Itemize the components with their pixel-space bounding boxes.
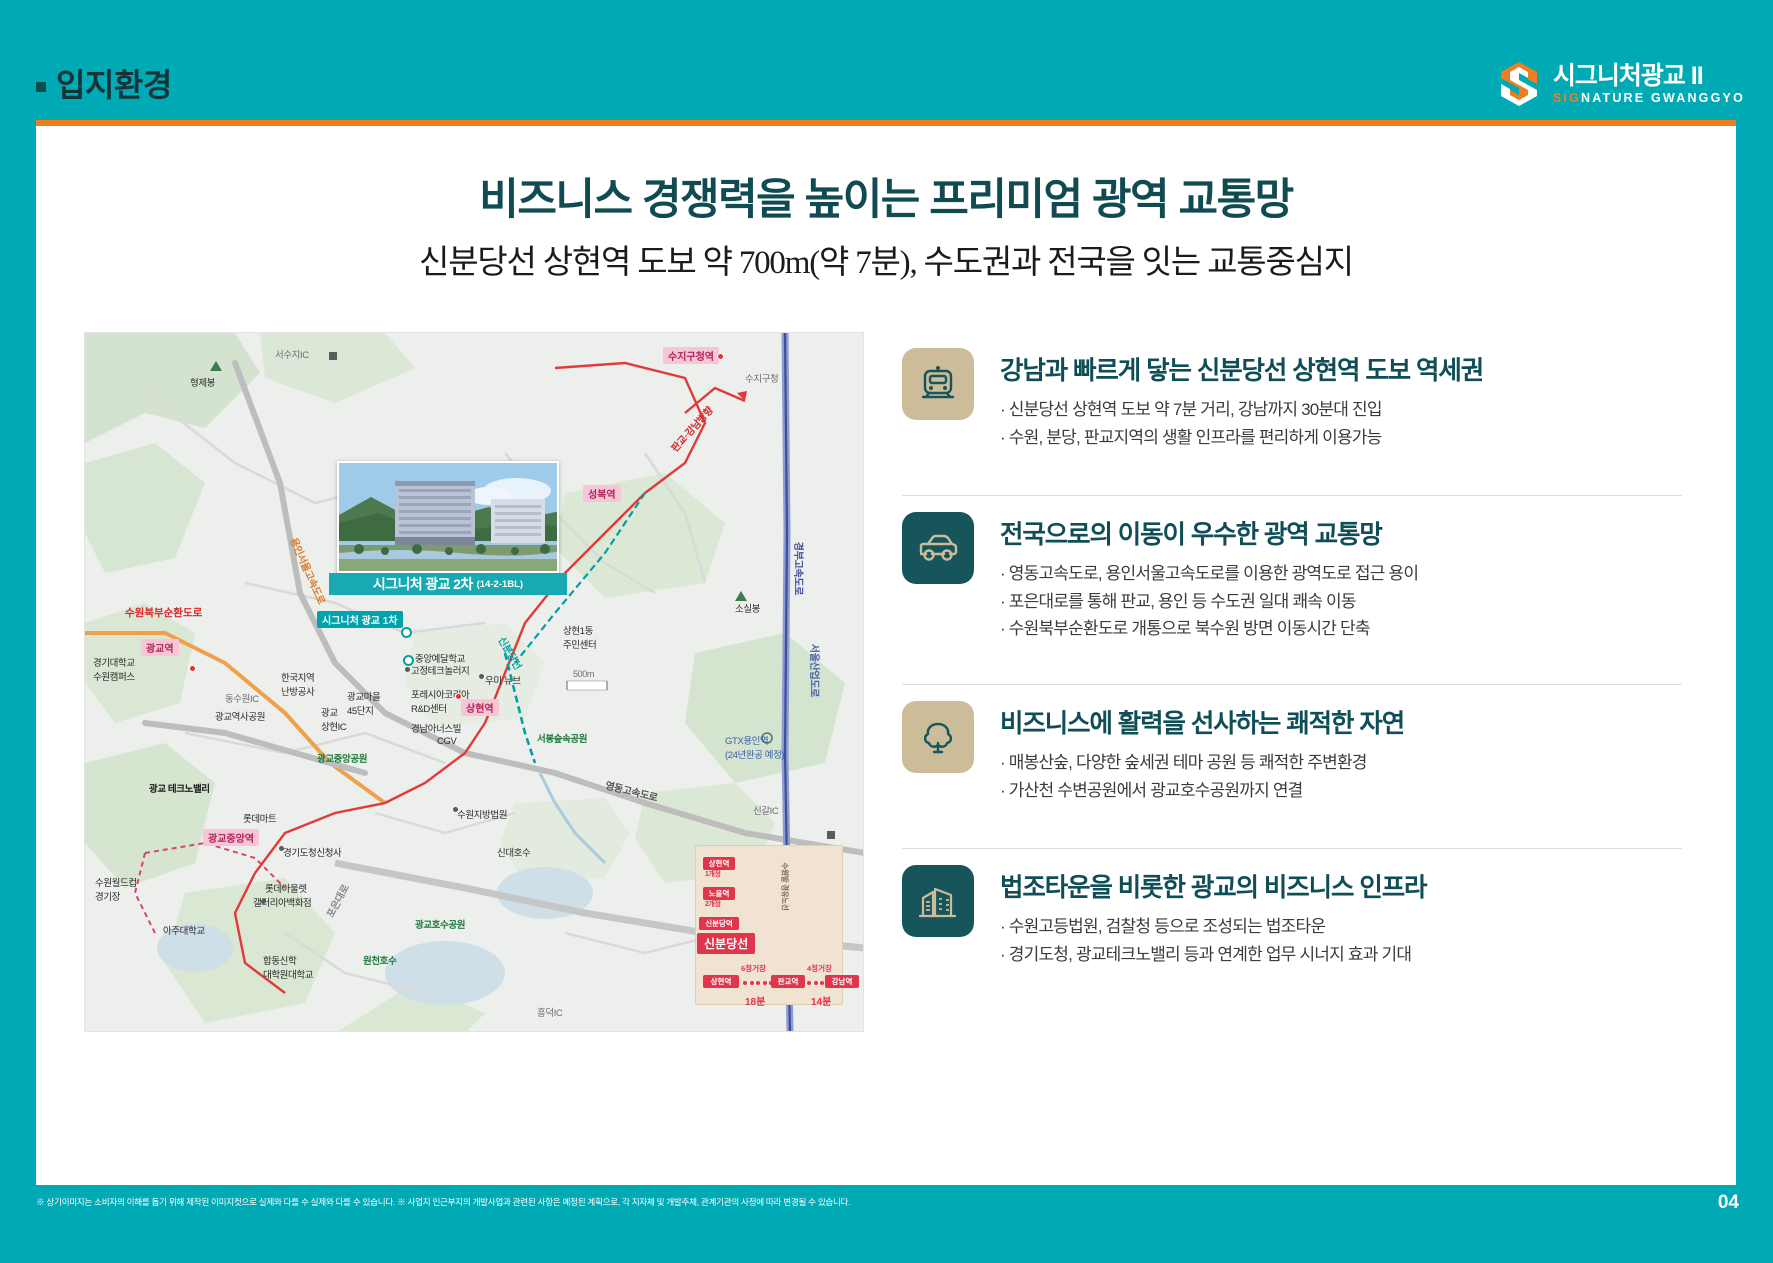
subway-station-pangyo[interactable]: 판교역 — [771, 975, 805, 988]
project-caption-sub: (14-2-1BL) — [477, 579, 523, 590]
mountain-icon — [210, 361, 222, 371]
map-label-gyeonggi-province-office: 경기도청신청사 — [283, 845, 341, 859]
logo-en-accent: SIG — [1553, 91, 1581, 105]
feature-bullet: · 매봉산숲, 다양한 숲세권 테마 공원 등 쾌적한 주변환경 — [1000, 749, 1404, 777]
logo-wordmark: 시그니처광교 II SIGNATURE GWANGGYO — [1553, 64, 1745, 105]
project-marker-icon — [403, 655, 414, 666]
map-label-gwanggyo-sanghyeon-ic: 광교상현IC — [321, 705, 346, 733]
disclaimer-text: ※ 상기이미지는 소비자의 이해를 돕기 위해 제작된 이미지컷으로 실제와 다… — [36, 1196, 1636, 1208]
logo-en-rest: NATURE GWANGGYO — [1581, 91, 1745, 105]
feature-item-business: 법조타운을 비롯한 광교의 비즈니스 인프라 · 수원고등법원, 검찰청 등으로… — [896, 849, 1696, 1012]
interchange-marker — [827, 831, 835, 839]
map-label-hapdong-seminary: 합동신학대학원대학교 — [263, 953, 313, 981]
content-card: 비즈니스 경쟁력을 높이는 프리미엄 광역 교통망 신분당선 상현역 도보 약 … — [36, 120, 1736, 1185]
feature-text-block: 강남과 빠르게 닿는 신분당선 상현역 도보 역세권 · 신분당선 상현역 도보… — [1000, 348, 1483, 451]
map-label-gwanggyo-central-park: 광교중앙공원 — [317, 751, 367, 765]
map-label-woncheon-lake: 원천호수 — [363, 953, 396, 967]
feature-bullet: · 가산천 수변공원에서 광교호수공원까지 연결 — [1000, 777, 1404, 805]
feature-bullet: · 신분당선 상현역 도보 약 7분 거리, 강남까지 30분대 진입 — [1000, 396, 1483, 424]
poi-dot-icon — [453, 807, 458, 812]
poi-dot-icon — [479, 674, 484, 679]
s-hexagon-logo-icon — [1495, 60, 1543, 108]
feature-item-station: 강남과 빠르게 닿는 신분당선 상현역 도보 역세권 · 신분당선 상현역 도보… — [896, 332, 1696, 495]
subway-station-gangnam[interactable]: 강남역 — [825, 975, 859, 988]
brand-logo: 시그니처광교 II SIGNATURE GWANGGYO — [1495, 58, 1745, 110]
subway-line-badge: 신분당선 — [697, 933, 755, 954]
map-label-gwanggyo-history-park: 광교역사공원 — [215, 709, 265, 723]
feature-bullet: · 수원고등법원, 검찰청 등으로 조성되는 법조타운 — [1000, 913, 1426, 941]
map-label-gyeongnam-honorsville: 경남아너스빌 — [411, 721, 461, 735]
map-label-singal-ic: 신갈IC — [753, 803, 778, 817]
map-label-world-cup-stadium: 수원월드컵경기장 — [95, 875, 137, 903]
road-label-seoul-industrial-road: 서울산업도로 — [808, 644, 823, 697]
subway-seg2-time: 14분 — [811, 993, 831, 1008]
feature-text-block: 법조타운을 비롯한 광교의 비즈니스 인프라 · 수원고등법원, 검찰청 등으로… — [1000, 865, 1426, 968]
page-subtitle: 신분당선 상현역 도보 약 700m(약 7분), 수도권과 전국을 잇는 교통… — [36, 235, 1736, 283]
subway-seg1-time: 18분 — [745, 993, 765, 1008]
feature-title: 전국으로의 이동이 우수한 광역 교통망 — [1000, 514, 1418, 551]
subway-vstation-0-sub: 1개정 — [705, 869, 721, 879]
subway-vstation-1-label: 노을역 — [709, 889, 730, 898]
page-title: 비즈니스 경쟁력을 높이는 프리미엄 광역 교통망 — [36, 165, 1736, 227]
subway-dots-segment-1 — [743, 981, 773, 985]
subway-vertical-note: 수원발 경유노선 — [779, 863, 790, 911]
station-tag-seongbok[interactable]: 성복역 — [583, 485, 621, 502]
logo-english-text: SIGNATURE GWANGGYO — [1553, 92, 1745, 105]
feature-bullet: · 경기도청, 광교테크노밸리 등과 연계한 업무 시너지 효과 기대 — [1000, 941, 1426, 969]
map-label-suji-gu-office: 수지구청 — [745, 371, 778, 385]
feature-bullet: · 포은대로를 통해 판교, 용인 등 수도권 일대 쾌속 이동 — [1000, 588, 1418, 616]
station-tag-sanghyeon[interactable]: 상현역 — [461, 699, 499, 716]
subway-dots-segment-2 — [807, 981, 824, 985]
map-label-gwanggyo-lake-park: 광교호수공원 — [415, 917, 465, 931]
phase1-tag[interactable]: 시그니처 광교 1차 — [317, 611, 403, 628]
map-label-suwon-district-court: 수원지방법원 — [457, 807, 507, 821]
map-label-sanghyeon-community-center: 상현1동주민센터 — [563, 623, 596, 651]
project-marker-icon — [401, 627, 412, 638]
map-label-sosilbong: 소실봉 — [735, 601, 760, 615]
feature-bullet: · 수원북부순환도로 개통으로 북수원 방면 이동시간 단축 — [1000, 615, 1418, 643]
map-label-korea-district-heating: 한국지역난방공사 — [281, 670, 314, 698]
section-title: 입지환경 — [56, 60, 172, 106]
subway-station-sanghyeon[interactable]: 상현역 — [703, 975, 739, 988]
map-label-gtx-yongin: GTX용인역(24년완공 예정) — [725, 733, 784, 761]
buildings-icon — [902, 865, 974, 937]
subway-vstation-2-label: 신분당역 — [705, 919, 733, 928]
feature-list: 강남과 빠르게 닿는 신분당선 상현역 도보 역세권 · 신분당선 상현역 도보… — [896, 332, 1696, 1032]
map-label-lotte-outlet: 롯데아울렛 — [265, 881, 307, 895]
subway-vstation-0-label: 상현역 — [709, 859, 730, 868]
road-label-gyeongbu-expressway: 경부고속도로 — [792, 542, 807, 595]
station-tag-gwanggyo-central[interactable]: 광교중앙역 — [203, 829, 259, 846]
section-bullet-icon — [36, 82, 46, 92]
subway-station-0-label: 상현역 — [711, 977, 732, 986]
feature-bullet: · 영동고속도로, 용인서울고속도로를 이용한 광역도로 접근 용이 — [1000, 560, 1418, 588]
subway-seg2-stops: 4정거장 — [807, 963, 832, 974]
map-label-gwanggyo-maeul-45: 광교마을45단지 — [347, 689, 380, 717]
subway-station-2-label: 강남역 — [832, 977, 853, 986]
map-label-woomi-newv: 우미 뉴브 — [485, 673, 521, 687]
station-pin-icon — [455, 693, 462, 700]
poi-dot-icon — [279, 846, 284, 851]
tree-icon — [902, 701, 974, 773]
map-label-ajou-univ: 아주대학교 — [163, 923, 205, 937]
page-number: 04 — [1718, 1192, 1739, 1214]
map-label-kyonggi-univ: 경기대학교수원캠퍼스 — [93, 655, 135, 683]
feature-title: 강남과 빠르게 닿는 신분당선 상현역 도보 역세권 — [1000, 350, 1483, 387]
station-pin-icon — [717, 353, 724, 360]
map-label-gojeong-technology: 고정테크놀러지 — [411, 663, 469, 677]
feature-bullet: · 수원, 분당, 판교지역의 생활 인프라를 편리하게 이용가능 — [1000, 424, 1483, 452]
project-caption-main: 시그니처 광교 2차 — [373, 574, 473, 594]
orange-accent-bar — [36, 120, 1736, 126]
feature-title: 법조타운을 비롯한 광교의 비즈니스 인프라 — [1000, 867, 1426, 904]
map-label-scale: 500m — [573, 669, 594, 679]
poi-dot-icon — [405, 667, 410, 672]
station-pin-icon — [189, 665, 196, 672]
feature-item-nature: 비즈니스에 활력을 선사하는 쾌적한 자연 · 매봉산숲, 다양한 숲세권 테마… — [896, 685, 1696, 848]
page-header: 입지환경 시그니처광교 II SIGNATURE GWANGGYO — [0, 0, 1773, 122]
feature-item-roads: 전국으로의 이동이 우수한 광역 교통망 · 영동고속도로, 용인서울고속도로를… — [896, 496, 1696, 659]
map-label-lottemart: 롯데마트 — [243, 811, 276, 825]
subway-seg1-stops: 6정거장 — [741, 963, 766, 974]
map-label-gwanggyo-techno-valley: 광교 테크노밸리 — [149, 781, 210, 795]
project-caption: 시그니처 광교 2차 (14-2-1BL) — [329, 573, 567, 595]
subway-vstation-2[interactable]: 신분당역 — [699, 917, 739, 930]
project-rendering-photo — [337, 461, 559, 573]
map-label-hyeongjebong: 형제봉 — [190, 375, 215, 389]
logo-korean-text: 시그니처광교 II — [1553, 64, 1745, 89]
hero-title-block: 비즈니스 경쟁력을 높이는 프리미엄 광역 교통망 신분당선 상현역 도보 약 … — [36, 165, 1736, 283]
feature-title: 비즈니스에 활력을 선사하는 쾌적한 자연 — [1000, 703, 1404, 740]
feature-text-block: 비즈니스에 활력을 선사하는 쾌적한 자연 · 매봉산숲, 다양한 숲세권 테마… — [1000, 701, 1404, 804]
map-label-seobong-forest-park: 서봉숲속공원 — [537, 731, 587, 745]
road-label-suwon-north-ring: 수원북부순환도로 — [125, 605, 202, 620]
map-label-sindae-lake: 신대호수 — [497, 845, 530, 859]
mountain-icon — [735, 591, 747, 601]
map-label-seosuji-ic: 서수지IC — [275, 347, 309, 361]
feature-text-block: 전국으로의 이동이 우수한 광역 교통망 · 영동고속도로, 용인서울고속도로를… — [1000, 512, 1418, 643]
subway-station-1-label: 판교역 — [778, 977, 799, 986]
map-label-dongsuwon-ic: 동수원IC — [225, 691, 259, 705]
interchange-marker — [329, 352, 337, 360]
map-label-heungdeok-ic: 흥덕IC — [537, 1005, 562, 1019]
station-tag-suji-gu-office[interactable]: 수지구청역 — [663, 347, 719, 364]
map-label-cgv: CGV — [437, 736, 456, 747]
location-map[interactable]: 서수지IC 형제봉 수지구청 소실봉 경기대학교수원캠퍼스 광교역사공원 광교중… — [84, 332, 864, 1032]
poi-dot-icon — [261, 899, 266, 904]
car-icon — [902, 512, 974, 584]
station-tag-gwanggyo[interactable]: 광교역 — [141, 639, 179, 656]
subway-vstation-1-sub: 2개정 — [705, 899, 721, 909]
train-icon — [902, 348, 974, 420]
